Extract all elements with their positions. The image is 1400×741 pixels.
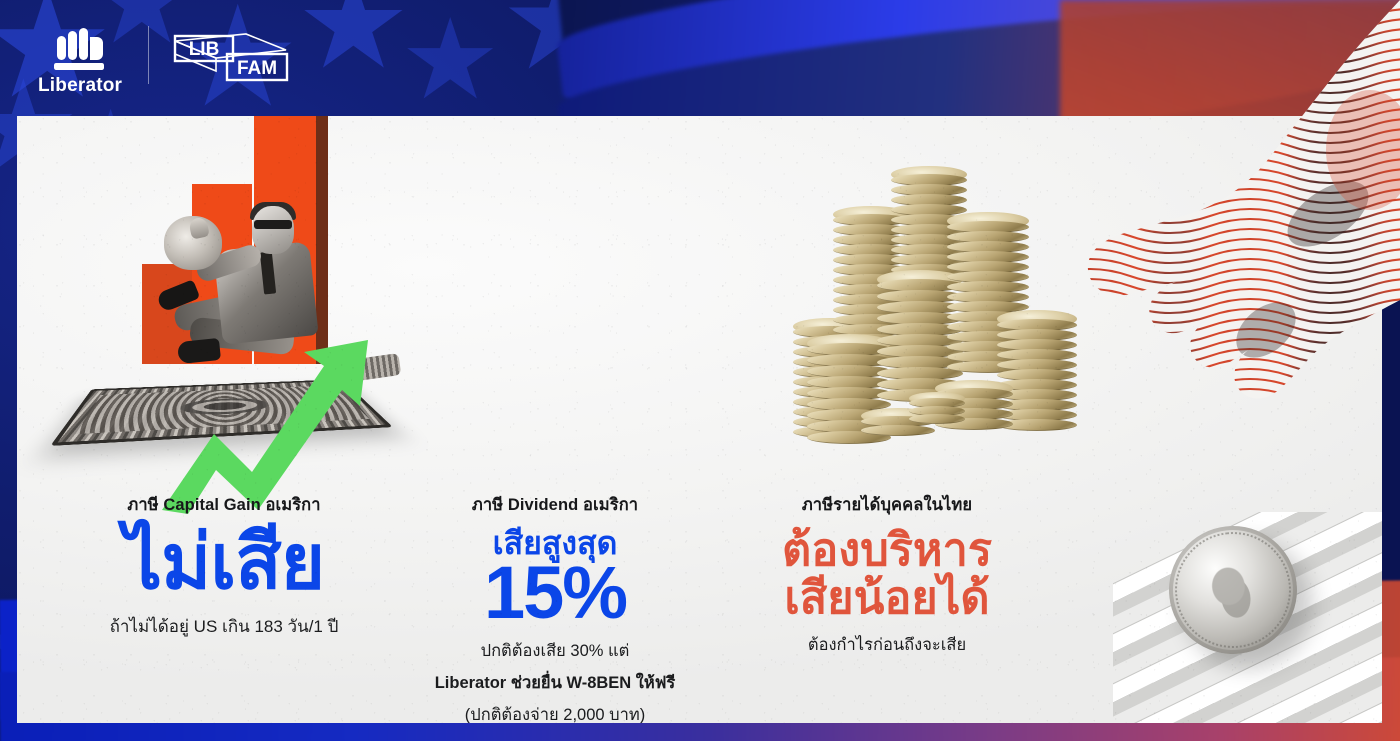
liberator-wordmark: Liberator xyxy=(38,75,122,97)
headline-thai-income-line1: ต้องบริหาร xyxy=(707,528,1067,572)
sub-dividend-line3: (ปกติต้องจ่าย 2,000 บาท) xyxy=(395,704,715,723)
headline-thai-income-line2: เสียน้อยได้ xyxy=(707,576,1067,620)
kicker-dividend: ภาษี Dividend อเมริกา xyxy=(395,492,715,518)
raised-fist-icon xyxy=(51,28,109,72)
kicker-thai-income: ภาษีรายได้บุคคลในไทย xyxy=(707,492,1067,518)
sub-capital-gain: ถ้าไม่ได้อยู่ US เกิน 183 วัน/1 ปี xyxy=(44,616,404,639)
sub-dividend-line2: Liberator ช่วยยื่น W-8BEN ให้ฟรี xyxy=(395,672,715,694)
headline-dividend-rate: 15% xyxy=(395,557,715,630)
text-block-capital-gain: ภาษี Capital Gain อเมริกา ไม่เสีย ถ้าไม่… xyxy=(44,116,404,639)
infographic-canvas: ★ ★ ★ ★ ★ ★ ★ ★ ★ ★ ★ xyxy=(0,0,1400,741)
sub-dividend-line2-text: Liberator ช่วยยื่น W-8BEN ให้ฟรี xyxy=(435,674,676,692)
liberator-logo[interactable]: Liberator xyxy=(38,28,122,97)
libfam-top-text: LIB xyxy=(189,39,220,60)
headline-capital-gain: ไม่เสีย xyxy=(44,526,404,600)
libfam-logo[interactable]: LIB FAM xyxy=(172,32,290,84)
logo-divider xyxy=(148,26,149,84)
kicker-capital-gain: ภาษี Capital Gain อเมริกา xyxy=(44,492,404,518)
libfam-bottom-text: FAM xyxy=(237,58,277,79)
text-block-thai-income: ภาษีรายได้บุคคลในไทย ต้องบริหาร เสียน้อย… xyxy=(707,116,1067,656)
halftone-hand-decor xyxy=(1070,0,1400,420)
sub-thai-income: ต้องกำไรก่อนถึงจะเสีย xyxy=(707,634,1067,656)
text-block-dividend: ภาษี Dividend อเมริกา เสียสูงสุด 15% ปกต… xyxy=(395,116,715,723)
sub-dividend-line1: ปกติต้องเสีย 30% แต่ xyxy=(395,640,715,662)
